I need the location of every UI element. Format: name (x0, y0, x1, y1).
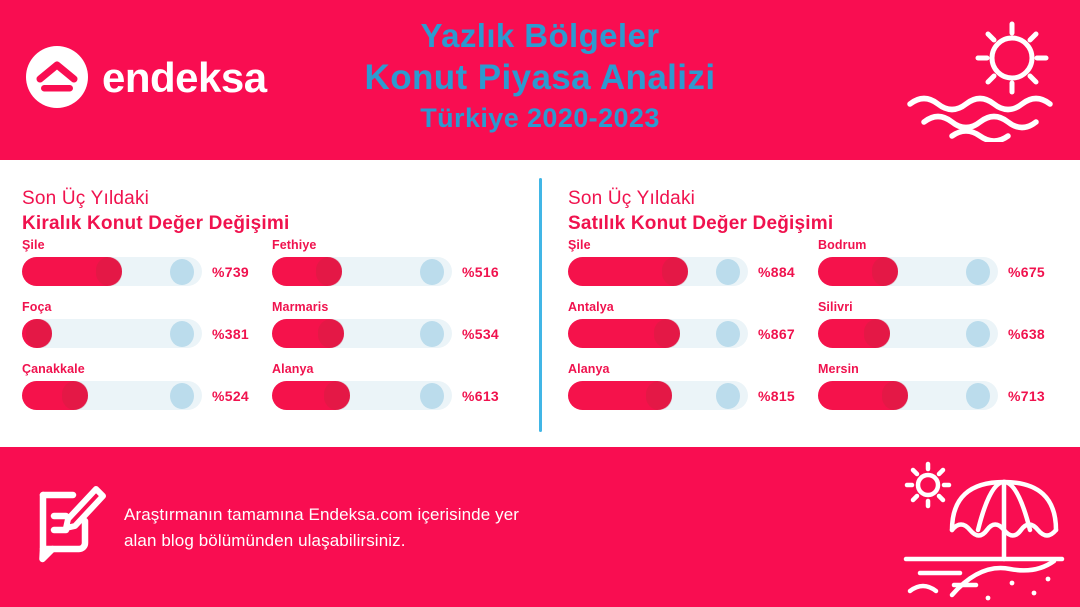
bar-value: %675 (1008, 257, 1045, 286)
bar-fill (568, 319, 680, 348)
bar-track (568, 319, 748, 348)
bar-value: %516 (462, 257, 499, 286)
bar-knob-icon (170, 383, 194, 409)
header-banner: endeksa Yazlık Bölgeler Konut Piyasa Ana… (0, 0, 1080, 160)
bar-cap (318, 319, 344, 348)
section-heading-satilik: Son Üç Yıldaki Satılık Konut Değer Değiş… (568, 186, 833, 237)
bar-row[interactable]: Fethiye %516 (272, 238, 522, 298)
bar-fill (568, 381, 672, 410)
beach-umbrella-sun-icon (876, 457, 1066, 607)
bar-knob-icon (716, 321, 740, 347)
bar-value: %739 (212, 257, 249, 286)
bar-cap (62, 381, 88, 410)
bar-label: Şile (22, 238, 45, 252)
bar-track (272, 381, 452, 410)
bar-value: %613 (462, 381, 499, 410)
bar-row[interactable]: Mersin %713 (818, 362, 1068, 422)
bar-fill (272, 381, 350, 410)
bar-cap (26, 319, 52, 348)
bar-knob-icon (420, 383, 444, 409)
bar-track (568, 381, 748, 410)
bar-track (22, 257, 202, 286)
data-panel: Son Üç Yıldaki Kiralık Konut Değer Değiş… (0, 160, 1080, 447)
bar-row[interactable]: Silivri %638 (818, 300, 1068, 360)
bar-list-satilik: Şile %884 Bodrum (540, 238, 1060, 426)
bar-label: Foça (22, 300, 52, 314)
bar-knob-icon (170, 321, 194, 347)
bar-cap (316, 257, 342, 286)
bar-track (568, 257, 748, 286)
bar-row[interactable]: Foça %381 (22, 300, 272, 360)
bar-label: Bodrum (818, 238, 867, 252)
section-heading-line1: Son Üç Yıldaki (568, 186, 833, 211)
footer-message: Araştırmanın tamamına Endeksa.com içeris… (124, 502, 724, 554)
bar-fill (818, 381, 908, 410)
bar-value: %638 (1008, 319, 1045, 348)
bar-label: Çanakkale (22, 362, 85, 376)
bar-track (818, 319, 998, 348)
bar-cap (864, 319, 890, 348)
bar-row[interactable]: Şile %884 (568, 238, 818, 298)
bar-knob-icon (716, 259, 740, 285)
bar-label: Antalya (568, 300, 614, 314)
section-heading-line1: Son Üç Yıldaki (22, 186, 289, 211)
bar-cap (654, 319, 680, 348)
bar-fill (818, 257, 898, 286)
bar-fill (22, 257, 122, 286)
bar-row[interactable]: Çanakkale %524 (22, 362, 272, 422)
bar-track (22, 381, 202, 410)
bar-cap (872, 257, 898, 286)
bar-cap (324, 381, 350, 410)
bar-value: %884 (758, 257, 795, 286)
bar-knob-icon (420, 321, 444, 347)
bar-label: Mersin (818, 362, 859, 376)
bar-list-kiralik: Şile %739 Fethiye (0, 238, 520, 426)
bar-label: Silivri (818, 300, 853, 314)
bar-knob-icon (170, 259, 194, 285)
infographic-canvas: endeksa Yazlık Bölgeler Konut Piyasa Ana… (0, 0, 1080, 607)
bar-track (272, 319, 452, 348)
bar-knob-icon (966, 383, 990, 409)
bar-label: Alanya (568, 362, 610, 376)
note-pencil-speech-bubble-icon (34, 483, 108, 563)
bar-knob-icon (420, 259, 444, 285)
bar-track (22, 319, 202, 348)
bar-row[interactable]: Alanya %613 (272, 362, 522, 422)
bar-row[interactable]: Şile %739 (22, 238, 272, 298)
bar-fill (272, 257, 342, 286)
bar-fill (568, 257, 688, 286)
bar-label: Alanya (272, 362, 314, 376)
bar-value: %815 (758, 381, 795, 410)
bar-cap (646, 381, 672, 410)
bar-cap (662, 257, 688, 286)
bar-fill (22, 381, 88, 410)
footer-banner: Araştırmanın tamamına Endeksa.com içeris… (0, 447, 1080, 607)
section-kiralik: Son Üç Yıldaki Kiralık Konut Değer Değiş… (0, 160, 520, 447)
bar-value: %524 (212, 381, 249, 410)
bar-row[interactable]: Marmaris %534 (272, 300, 522, 360)
section-heading-line2: Satılık Konut Değer Değişimi (568, 211, 833, 237)
bar-row[interactable]: Bodrum %675 (818, 238, 1068, 298)
bar-row[interactable]: Alanya %815 (568, 362, 818, 422)
bar-fill (22, 319, 52, 348)
bar-track (272, 257, 452, 286)
bar-label: Marmaris (272, 300, 328, 314)
bar-value: %713 (1008, 381, 1045, 410)
bar-value: %534 (462, 319, 499, 348)
bar-label: Şile (568, 238, 591, 252)
section-satilik: Son Üç Yıldaki Satılık Konut Değer Değiş… (540, 160, 1060, 447)
footer-line-2: alan blog bölümünden ulaşabilirsiniz. (124, 528, 724, 554)
sun-and-waves-icon (898, 12, 1068, 142)
bar-fill (272, 319, 344, 348)
bar-knob-icon (716, 383, 740, 409)
bar-cap (882, 381, 908, 410)
footer-line-1: Araştırmanın tamamına Endeksa.com içeris… (124, 502, 724, 528)
bar-cap (96, 257, 122, 286)
bar-knob-icon (966, 259, 990, 285)
bar-knob-icon (966, 321, 990, 347)
bar-track (818, 381, 998, 410)
section-heading-line2: Kiralık Konut Değer Değişimi (22, 211, 289, 237)
bar-value: %867 (758, 319, 795, 348)
bar-fill (818, 319, 890, 348)
bar-label: Fethiye (272, 238, 316, 252)
section-heading-kiralik: Son Üç Yıldaki Kiralık Konut Değer Değiş… (22, 186, 289, 237)
bar-row[interactable]: Antalya %867 (568, 300, 818, 360)
bar-track (818, 257, 998, 286)
bar-value: %381 (212, 319, 249, 348)
